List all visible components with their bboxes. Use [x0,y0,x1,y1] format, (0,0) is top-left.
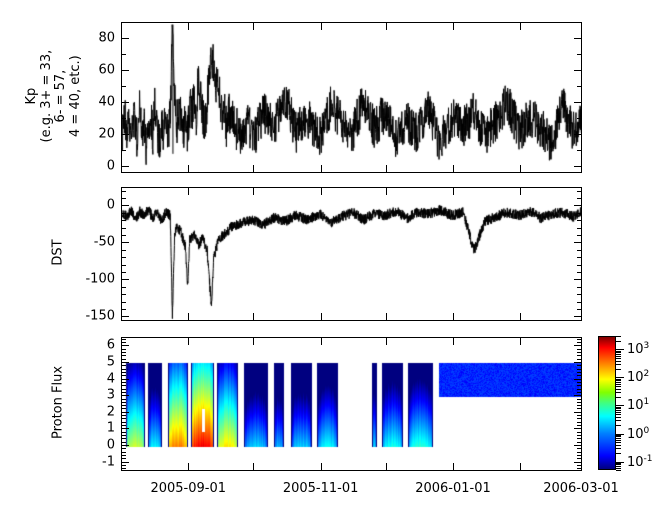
axis-tick [577,458,581,459]
axis-tick [453,463,454,470]
panel-dst-ylabel: DST [51,192,66,312]
axis-tick [577,355,581,356]
colorbar-tick [616,405,624,406]
ytick-label: -100 [85,272,115,287]
axis-tick [577,22,581,23]
axis-tick [577,369,581,370]
axis-tick [577,118,581,119]
axis-tick [574,279,581,280]
panel-proton-flux [121,337,582,471]
ytick-label: 6 [107,338,115,353]
colorbar-tick [616,448,621,449]
axis-tick [577,309,581,310]
axis-tick [574,395,581,396]
axis-tick [386,23,387,30]
colorbar-tick [616,453,621,454]
axis-tick [577,294,581,295]
axis-tick [577,302,581,303]
axis-tick [122,385,126,386]
colorbar-tick [616,442,621,443]
colorbar-tick [616,436,621,437]
axis-tick [122,70,129,71]
axis-tick [122,389,126,390]
axis-tick [122,445,129,446]
axis-tick [577,213,581,214]
axis-tick [321,338,322,345]
colorbar-tick [616,417,621,418]
colorbar-tick [616,352,621,353]
colorbar-tick [616,397,621,398]
axis-tick [321,23,322,30]
axis-tick [122,316,129,317]
axis-tick [453,23,454,30]
ytick-label: -150 [85,309,115,324]
axis-tick [188,23,189,30]
axis-tick [453,188,454,195]
axis-tick [577,150,581,151]
axis-tick [577,375,581,376]
colorbar-gradient [599,337,615,469]
axis-tick [577,365,581,366]
colorbar-tick [616,341,621,342]
axis-tick [122,359,126,360]
axis-tick [577,385,581,386]
axis-tick [122,272,126,273]
axis-tick [122,287,126,288]
axis-tick [577,372,581,373]
axis-tick [577,422,581,423]
axis-tick [253,338,254,345]
axis-tick [122,362,129,363]
axis-tick [122,235,126,236]
axis-tick [122,150,126,151]
axis-tick [577,415,581,416]
axis-tick [122,432,126,433]
axis-tick [122,435,126,436]
axis-tick [122,392,126,393]
axis-tick [520,165,521,172]
axis-tick [122,102,129,103]
axis-tick [577,342,581,343]
axis-tick [577,438,581,439]
axis-tick [122,205,129,206]
colorbar-tick [616,470,621,471]
axis-tick [577,235,581,236]
axis-tick [577,399,581,400]
axis-tick [577,339,581,340]
axis-tick [122,402,126,403]
colorbar-tick [616,361,621,362]
ytick-label: 40 [98,95,115,110]
ytick-label: -1 [102,455,115,470]
axis-tick [122,294,126,295]
axis-tick [122,166,129,167]
colorbar-tick [616,384,621,385]
axis-tick [122,22,126,23]
axis-tick [122,228,126,229]
axis-tick [574,70,581,71]
axis-tick [577,382,581,383]
axis-tick [122,458,126,459]
xtick-label: 2005-09-01 [150,481,226,496]
colorbar-tick [616,380,621,381]
axis-tick [122,468,126,469]
axis-tick [188,188,189,195]
axis-tick [122,302,126,303]
axis-tick [453,338,454,345]
axis-tick [574,242,581,243]
ytick-label: 1 [107,421,115,436]
ytick-label: 80 [98,31,115,46]
ytick-label: 5 [107,355,115,370]
axis-tick [122,418,126,419]
ylabel-line: (e.g. 3+ = 33, [39,16,54,176]
axis-tick [253,463,254,470]
axis-tick [386,188,387,195]
colorbar-tick [616,463,621,464]
axis-tick [577,228,581,229]
axis-tick [577,408,581,409]
axis-tick [520,463,521,470]
axis-tick [122,265,126,266]
colorbar-tick [616,410,621,411]
axis-tick [574,445,581,446]
axis-tick [122,345,129,346]
colorbar-tick [616,466,621,467]
colorbar-tick [616,386,621,387]
axis-tick [321,165,322,172]
axis-tick [122,452,126,453]
ytick-label: 3 [107,388,115,403]
panel-kp-ylabel: Kp(e.g. 3+ = 33,6- = 57,4 = 40, etc.) [25,16,83,176]
colorbar-tick [616,434,624,435]
colorbar-tick [616,414,621,415]
ytick-label: 0 [107,198,115,213]
axis-tick [577,425,581,426]
axis-tick [574,38,581,39]
xtick-label: 2006-03-01 [543,481,619,496]
colorbar-tick [616,464,621,465]
colorbar-tick [616,440,621,441]
colorbar-tick-label: 103 [627,341,649,357]
axis-tick [122,339,126,340]
axis-tick [188,313,189,320]
kp-line-plot [122,23,582,173]
axis-tick [321,188,322,195]
axis-tick [122,395,129,396]
axis-tick [386,313,387,320]
colorbar-tick [616,462,624,463]
axis-tick [321,463,322,470]
axis-tick [122,213,126,214]
xtick-label: 2006-01-01 [415,481,491,496]
axis-tick [122,462,129,463]
axis-tick [122,425,126,426]
axis-tick [574,412,581,413]
axis-tick [574,428,581,429]
colorbar-tick [616,379,621,380]
axis-tick [574,316,581,317]
colorbar-tick [616,356,621,357]
axis-tick [574,462,581,463]
axis-tick [122,355,126,356]
axis-tick [386,165,387,172]
axis-tick [574,362,581,363]
axis-tick [577,352,581,353]
axis-tick [577,191,581,192]
axis-tick [122,415,126,416]
axis-tick [188,165,189,172]
ylabel-line: 4 = 40, etc.) [69,16,84,176]
colorbar-tick [616,445,621,446]
axis-tick [574,379,581,380]
ylabel-line: 6- = 57, [54,16,69,176]
axis-tick [577,418,581,419]
axis-tick [122,465,126,466]
figure-root: 020406080 Kp(e.g. 3+ = 33,6- = 57,4 = 40… [0,0,665,523]
axis-tick [577,402,581,403]
axis-tick [386,338,387,345]
colorbar-tick [616,412,621,413]
axis-tick [574,102,581,103]
axis-tick [520,313,521,320]
axis-tick [122,250,126,251]
axis-tick [577,86,581,87]
axis-tick [574,134,581,135]
axis-tick [577,272,581,273]
axis-tick [577,448,581,449]
ylabel-line: Kp [25,16,40,176]
ytick-label: 2 [107,405,115,420]
axis-tick [520,338,521,345]
axis-tick [577,265,581,266]
colorbar-tick [616,435,621,436]
colorbar-tick [616,438,621,439]
axis-tick [122,422,126,423]
axis-tick [122,38,129,39]
axis-tick [122,369,126,370]
axis-tick [577,465,581,466]
axis-tick [122,349,126,350]
axis-tick [122,365,126,366]
axis-tick [574,205,581,206]
colorbar-tick [616,389,621,390]
colorbar-tick [616,468,621,469]
colorbar-tick [616,408,621,409]
axis-tick [122,428,129,429]
axis-tick [577,389,581,390]
colorbar-tick [616,358,621,359]
colorbar-tick [616,349,624,350]
axis-tick [122,242,129,243]
axis-tick [520,188,521,195]
axis-tick [574,166,581,167]
axis-tick [453,165,454,172]
axis-tick [122,257,126,258]
colorbar-tick [616,382,621,383]
ytick-label: 60 [98,63,115,78]
ytick-label: 20 [98,127,115,142]
axis-tick [122,375,126,376]
colorbar-tick [616,364,621,365]
colorbar [598,336,616,470]
axis-tick [577,257,581,258]
colorbar-tick [616,392,621,393]
ytick-label: 0 [107,159,115,174]
axis-tick [577,287,581,288]
axis-tick [577,198,581,199]
axis-tick [122,220,126,221]
colorbar-tick [616,420,621,421]
axis-tick [122,438,126,439]
dst-line-plot [122,188,582,321]
panel-proton-flux-ylabel: Proton Flux [51,332,66,472]
colorbar-tick [616,407,621,408]
axis-tick [253,23,254,30]
colorbar-tick [616,377,624,378]
proton-flux-heatmap [122,338,582,471]
ytick-label: 4 [107,372,115,387]
axis-tick [577,220,581,221]
axis-tick [122,412,129,413]
axis-tick [253,165,254,172]
axis-tick [122,372,126,373]
axis-tick [574,345,581,346]
axis-tick [321,313,322,320]
axis-tick [577,435,581,436]
axis-tick [577,250,581,251]
axis-tick [122,309,126,310]
axis-tick [122,352,126,353]
colorbar-tick [616,351,621,352]
axis-tick [253,313,254,320]
axis-tick [122,455,126,456]
axis-tick [122,134,129,135]
colorbar-tick-label: 102 [627,369,649,385]
panel-dst [121,187,582,321]
axis-tick [122,342,126,343]
axis-tick [122,382,126,383]
axis-tick [122,405,126,406]
axis-tick [122,54,126,55]
ytick-label: -50 [94,235,115,250]
axis-tick [577,405,581,406]
axis-tick [122,118,126,119]
axis-tick [122,408,126,409]
colorbar-tick-label: 10-1 [627,453,653,469]
axis-tick [122,399,126,400]
axis-tick [122,191,126,192]
colorbar-tick-label: 101 [627,397,649,413]
colorbar-tick [616,336,621,337]
colorbar-tick [616,369,621,370]
axis-tick [577,349,581,350]
axis-tick [122,379,129,380]
axis-tick [577,468,581,469]
axis-tick [122,198,126,199]
axis-tick [577,452,581,453]
axis-tick [577,432,581,433]
axis-tick [577,359,581,360]
axis-tick [122,86,126,87]
colorbar-tick [616,425,621,426]
axis-tick [386,463,387,470]
panel-kp [121,22,582,173]
axis-tick [453,313,454,320]
axis-tick [122,279,129,280]
axis-tick [520,23,521,30]
axis-tick [577,442,581,443]
xtick-label: 2005-11-01 [283,481,359,496]
ytick-label: 0 [107,438,115,453]
axis-tick [188,463,189,470]
colorbar-tick [616,354,621,355]
axis-tick [577,392,581,393]
axis-tick [577,54,581,55]
colorbar-tick-label: 100 [627,425,649,441]
axis-tick [188,338,189,345]
axis-tick [122,442,126,443]
axis-tick [253,188,254,195]
axis-tick [122,448,126,449]
axis-tick [577,455,581,456]
